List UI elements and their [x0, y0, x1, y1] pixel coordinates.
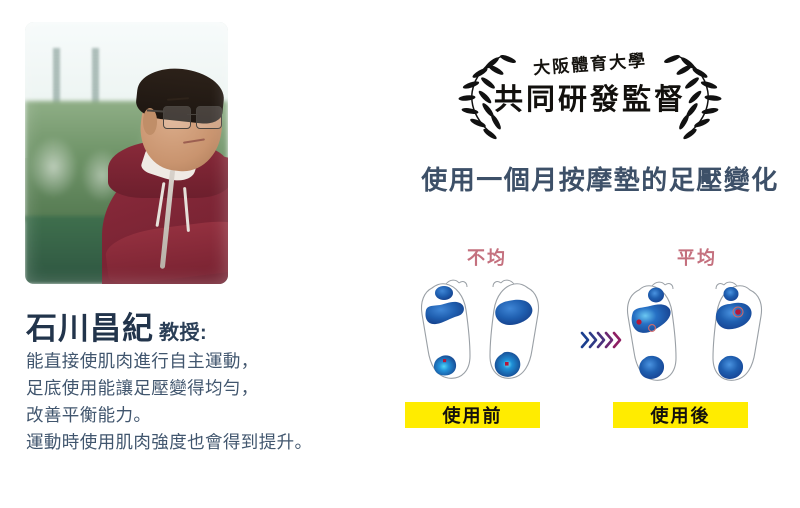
pressure-marker-before-left	[443, 359, 446, 362]
description-line-4: 運動時使用肌肉強度也會得到提升。	[26, 429, 376, 456]
footprint-before-svg	[410, 266, 570, 396]
pressure-marker-after-right	[735, 309, 741, 315]
footprint-after-right-group	[688, 266, 778, 396]
description-line-1: 能直接使肌肉進行自主運動，	[26, 348, 376, 375]
pressure-marker-before-right	[505, 362, 509, 366]
pressure-blob-toe-after-right	[724, 287, 739, 301]
pressure-blob-toe-after-left	[648, 288, 664, 303]
description-line-3: 改善平衡能力。	[26, 402, 376, 429]
foot-pressure-comparison: 不均 平均	[405, 244, 800, 444]
photo-vignette	[25, 22, 228, 284]
professor-description: 能直接使肌肉進行自主運動， 足底使用能讓足壓變得均勻， 改善平衡能力。 運動時使…	[26, 348, 376, 456]
laurel-emblem: 大阪體育大學 共同研發監督	[440, 46, 740, 142]
caption-after-use: 使用後	[613, 402, 748, 428]
professor-portrait-photo	[25, 22, 228, 284]
footprint-pair-before	[410, 266, 570, 396]
professor-name-line: 石川昌紀教授:	[26, 303, 207, 348]
pressure-blob-toe-before-left	[435, 286, 453, 300]
professor-name: 石川昌紀	[26, 311, 154, 346]
footprint-after-right-svg	[688, 266, 778, 396]
professor-title: 教授:	[159, 322, 207, 344]
promo-page: 石川昌紀教授: 能直接使肌肉進行自主運動， 足底使用能讓足壓變得均勻， 改善平衡…	[0, 0, 800, 508]
page-headline: 使用一個月按摩墊的足壓變化	[400, 160, 800, 197]
caption-before-use: 使用前	[405, 402, 540, 428]
emblem-supervision-text: 共同研發監督	[440, 76, 740, 118]
description-line-2: 足底使用能讓足壓變得均勻，	[26, 375, 376, 402]
pressure-marker-after-left	[636, 319, 641, 324]
